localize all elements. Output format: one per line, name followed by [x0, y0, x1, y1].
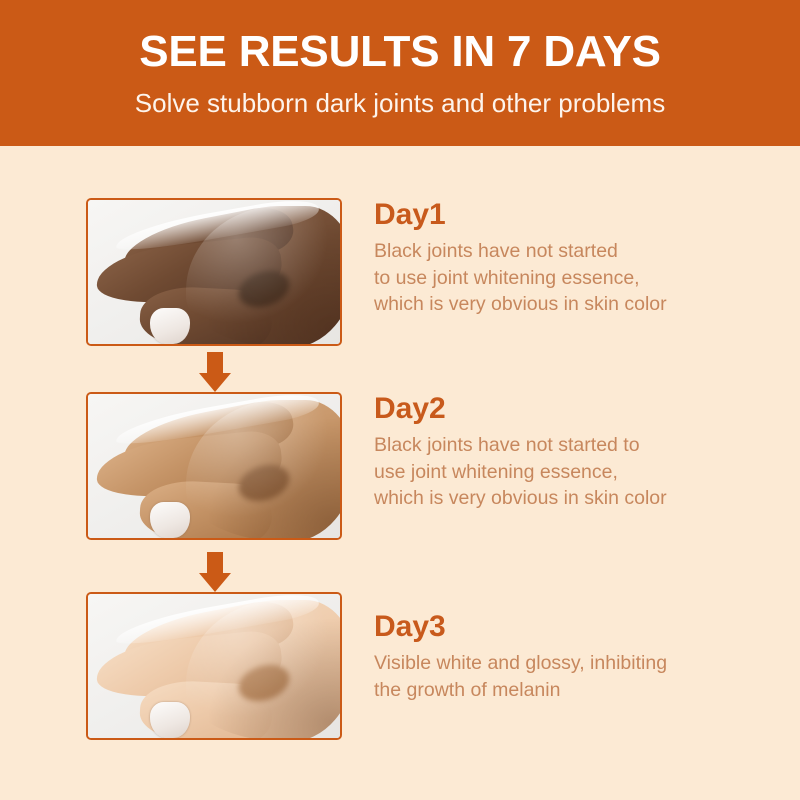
arrow-stem: [207, 552, 223, 574]
page-subtitle: Solve stubborn dark joints and other pro…: [0, 86, 800, 120]
progress-arrow-1: [199, 352, 231, 392]
hand-illustration-light: [88, 594, 340, 738]
thumbnail: [150, 308, 190, 344]
photo-frame-day1: [86, 198, 342, 346]
arrow-down-icon: [199, 373, 231, 392]
step-text-day3: Day3 Visible white and glossy, inhibitin…: [374, 610, 704, 703]
hand-photo-day2: [88, 394, 340, 538]
photo-frame-day2: [86, 392, 342, 540]
day-heading-day1: Day1: [374, 198, 704, 232]
hand-illustration-dark: [88, 200, 340, 344]
hand-photo-day3: [88, 594, 340, 738]
infographic-page: SEE RESULTS IN 7 DAYS Solve stubborn dar…: [0, 0, 800, 800]
day-heading-day3: Day3: [374, 610, 704, 644]
thumbnail: [150, 502, 190, 538]
step-row-day2: Day2 Black joints have not started to us…: [0, 392, 800, 544]
day-description-day3: Visible white and glossy, inhibiting the…: [374, 650, 704, 703]
photo-frame-day3: [86, 592, 342, 740]
day-description-day1: Black joints have not started to use joi…: [374, 238, 704, 318]
progress-arrow-2: [199, 552, 231, 592]
step-row-day3: Day3 Visible white and glossy, inhibitin…: [0, 592, 800, 744]
step-row-day1: Day1 Black joints have not started to us…: [0, 198, 800, 350]
arrow-stem: [207, 352, 223, 374]
hand-illustration-medium: [88, 394, 340, 538]
thumbnail: [150, 702, 190, 738]
day-heading-day2: Day2: [374, 392, 704, 426]
page-title: SEE RESULTS IN 7 DAYS: [0, 26, 800, 78]
hand-photo-day1: [88, 200, 340, 344]
step-text-day1: Day1 Black joints have not started to us…: [374, 198, 704, 318]
step-text-day2: Day2 Black joints have not started to us…: [374, 392, 704, 512]
arrow-down-icon: [199, 573, 231, 592]
header-banner: SEE RESULTS IN 7 DAYS Solve stubborn dar…: [0, 0, 800, 146]
day-description-day2: Black joints have not started to use joi…: [374, 432, 704, 512]
